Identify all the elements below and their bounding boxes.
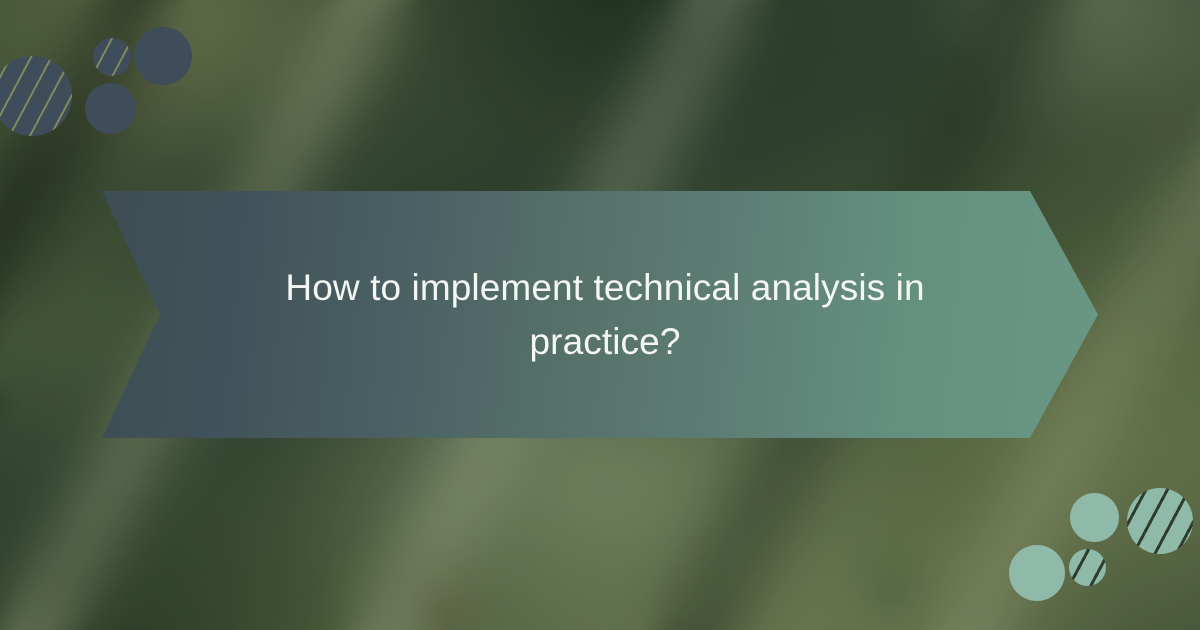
decor-circle-solid-large-top-left [134, 27, 192, 85]
headline-ribbon: How to implement technical analysis in p… [102, 191, 1098, 438]
decor-circle-striped-small-bottom-right [1069, 549, 1106, 586]
banner-card: How to implement technical analysis in p… [0, 0, 1200, 630]
decor-circle-solid-small-bottom-right [1070, 493, 1119, 542]
headline-text: How to implement technical analysis in p… [255, 261, 955, 369]
decor-circle-solid-medium-bottom-right [1009, 545, 1065, 601]
decor-circle-striped-large-bottom-right [1127, 488, 1193, 554]
decor-circle-striped-small-top-left [93, 38, 131, 76]
decor-circle-solid-small-top-left [85, 83, 136, 134]
